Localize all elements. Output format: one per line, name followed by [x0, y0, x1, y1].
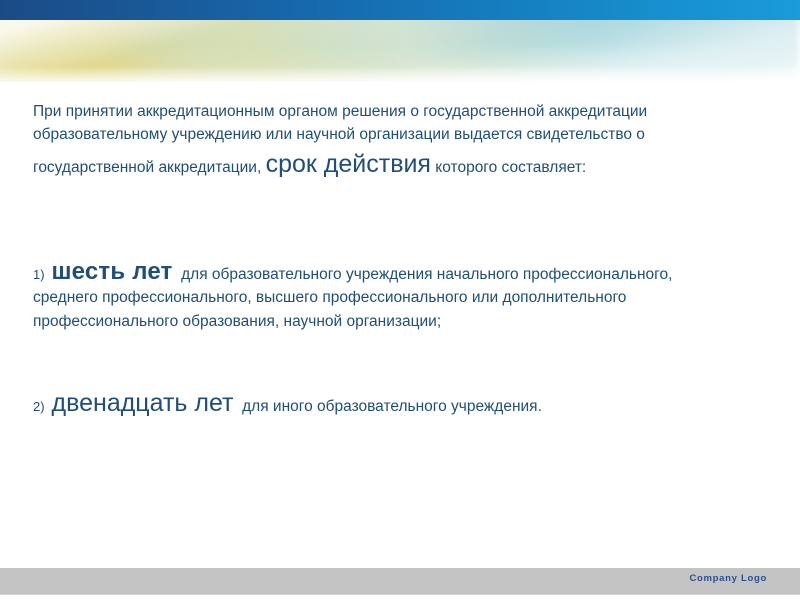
list-item-2-emphasis: двенадцать лет: [45, 389, 234, 417]
list-item-2-rest-text: для иного образовательного учреждения.: [242, 398, 542, 415]
top-accent-bar: [0, 0, 800, 20]
list-item-1-emphasis: шесть лет: [45, 258, 173, 285]
banner-bottom-fade: [0, 66, 800, 82]
list-item-1-marker: 1): [33, 267, 45, 282]
paragraph-1-emphasis: срок действия: [266, 150, 431, 178]
slide-body-list-item-2: 2) двенадцать лет для иного образователь…: [33, 389, 733, 418]
list-item-2-emphasis-text: двенадцать лет: [52, 389, 234, 417]
company-logo-placeholder: Company Logo: [689, 573, 767, 584]
paragraph-1: При принятии аккредитационным органом ре…: [33, 101, 733, 183]
footer-bar: [0, 568, 800, 595]
list-item-1-emphasis-text: шесть лет: [51, 258, 172, 285]
header-decorative-banner: [0, 20, 800, 82]
banner-right-edge-fade: [794, 20, 800, 82]
paragraph-1-run-comma: ,: [257, 159, 266, 176]
list-item-2-rest: для иного образовательного учреждения.: [234, 398, 542, 415]
list-item-2-marker: 2): [33, 399, 45, 414]
slide-canvas: При принятии аккредитационным органом ре…: [0, 0, 800, 600]
slide-body-paragraph-1: При принятии аккредитационным органом ре…: [33, 101, 733, 183]
slide-body-list-item-1: 1) шесть лет для образовательного учрежд…: [33, 258, 733, 333]
paragraph-1-run-normal-2: которого составляет:: [431, 159, 586, 176]
